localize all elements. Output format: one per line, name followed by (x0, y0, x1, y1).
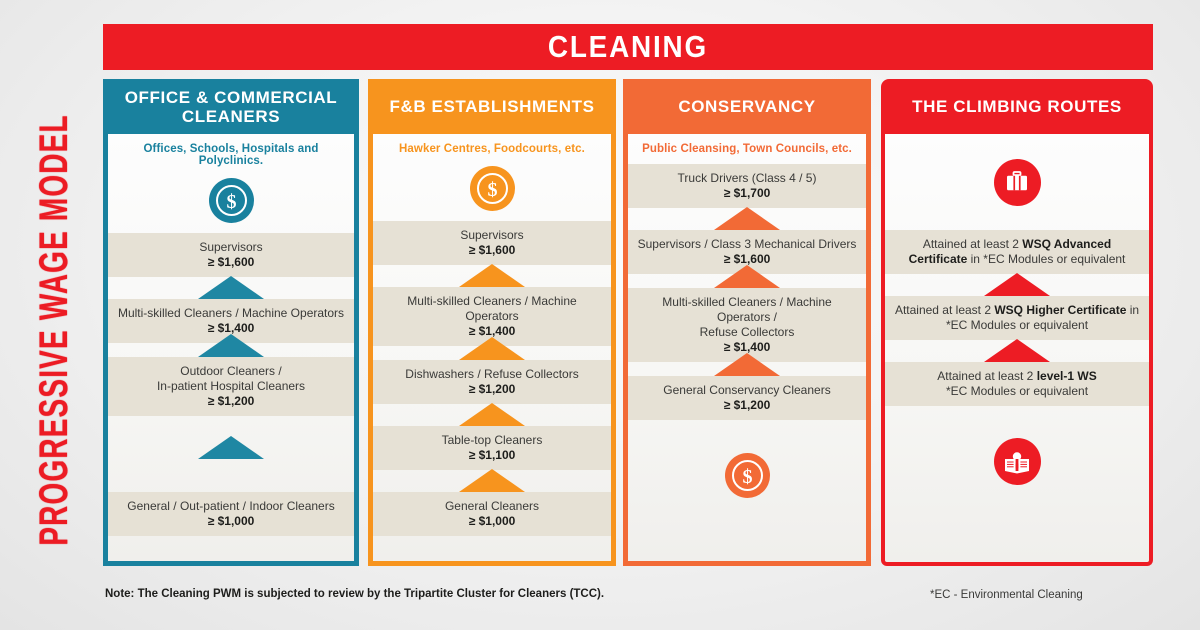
column-office-commercial: OFFICE & COMMERCIAL CLEANERS Offices, Sc… (103, 79, 359, 566)
route-row: Attained at least 2 WSQ Advanced Certifi… (885, 230, 1149, 274)
briefcase-icon (994, 159, 1041, 206)
arrow-gap (628, 362, 866, 376)
arrow-gap (628, 208, 866, 230)
column-heading-office: OFFICE & COMMERCIAL CLEANERS (103, 79, 359, 134)
up-arrow-icon (459, 469, 525, 492)
dollar-coin-icon: $ (470, 166, 515, 211)
route-row-pre: Attained at least 2 (937, 369, 1036, 383)
header-banner: CLEANING (103, 24, 1153, 70)
up-arrow-icon (459, 403, 525, 426)
columns-container: OFFICE & COMMERCIAL CLEANERS Offices, Sc… (103, 79, 1153, 566)
wage-row-label: Supervisors / Class 3 Mechanical Drivers (636, 237, 858, 252)
svg-text:$: $ (487, 179, 497, 201)
wage-row: Supervisors ≥ $1,600 (373, 221, 611, 265)
wage-row: Supervisors ≥ $1,600 (108, 233, 354, 277)
infographic-root: PROGRESSIVE WAGE MODEL CLEANING OFFICE &… (0, 0, 1200, 630)
wage-row-label: General Conservancy Cleaners (636, 383, 858, 398)
up-arrow-icon (459, 337, 525, 360)
arrow-gap (885, 340, 1149, 362)
wage-row-label: Multi-skilled Cleaners / Machine Operato… (116, 306, 346, 321)
route-row-pre: Attained at least 2 (923, 237, 1022, 251)
ladder-spacer (108, 476, 354, 492)
wage-row-label: Dishwashers / Refuse Collectors (381, 367, 603, 382)
wage-row-amount: ≥ $1,000 (381, 514, 603, 529)
arrow-gap (373, 404, 611, 426)
svg-text:$: $ (742, 466, 752, 488)
dollar-coin-icon-conservancy-wrap: $ (628, 420, 866, 530)
route-row: Attained at least 2 level-1 WS *EC Modul… (885, 362, 1149, 406)
wage-ladder-fnb: Supervisors ≥ $1,600 Multi-skilled Clean… (373, 221, 611, 536)
up-arrow-icon (714, 207, 780, 230)
column-body-conservancy: Public Cleansing, Town Councils, etc. Tr… (623, 134, 871, 566)
wage-row: General / Out-patient / Indoor Cleaners … (108, 492, 354, 536)
column-subtitle-fnb: Hawker Centres, Foodcourts, etc. (373, 134, 611, 155)
route-row-post: *EC Modules or equivalent (946, 384, 1088, 398)
column-heading-conservancy: CONSERVANCY (623, 79, 871, 134)
column-heading-routes: THE CLIMBING ROUTES (881, 79, 1153, 134)
wage-row-label: Outdoor Cleaners / In-patient Hospital C… (116, 364, 346, 394)
arrow-gap (108, 343, 354, 357)
wage-row-amount: ≥ $1,700 (636, 186, 858, 201)
wage-row-label: Multi-skilled Cleaners / Machine Operato… (381, 294, 603, 324)
wage-row-label: General / Out-patient / Indoor Cleaners (116, 499, 346, 514)
column-climbing-routes: THE CLIMBING ROUTES Attained at lea (881, 79, 1153, 566)
column-subtitle-conservancy: Public Cleansing, Town Councils, etc. (628, 134, 866, 155)
dollar-coin-icon: $ (725, 453, 770, 498)
svg-text:$: $ (226, 191, 236, 213)
column-conservancy: CONSERVANCY Public Cleansing, Town Counc… (623, 79, 871, 566)
wage-row-amount: ≥ $1,200 (636, 398, 858, 413)
wage-row-amount: ≥ $1,200 (381, 382, 603, 397)
up-arrow-icon (198, 436, 264, 459)
wage-row: Table-top Cleaners ≥ $1,100 (373, 426, 611, 470)
up-arrow-icon (198, 276, 264, 299)
route-row-strong: WSQ Higher Certificate (994, 303, 1126, 317)
column-body-routes: Attained at least 2 WSQ Advanced Certifi… (881, 134, 1153, 566)
arrow-gap (373, 265, 611, 287)
wage-row-amount: ≥ $1,600 (381, 243, 603, 258)
book-lightbulb-icon (994, 438, 1041, 485)
vertical-page-title-text: PROGRESSIVE WAGE MODEL (31, 114, 77, 545)
arrow-gap (373, 346, 611, 360)
briefcase-icon-wrap (885, 134, 1149, 230)
wage-row-label: Supervisors (381, 228, 603, 243)
route-row-pre: Attained at least 2 (895, 303, 994, 317)
column-subtitle-office: Offices, Schools, Hospitals and Polyclin… (108, 134, 354, 167)
dollar-coin-icon: $ (209, 178, 254, 223)
wage-row-label: Multi-skilled Cleaners / Machine Operato… (636, 295, 858, 340)
wage-row-label: Supervisors (116, 240, 346, 255)
up-arrow-icon (984, 273, 1050, 296)
wage-row: Multi-skilled Cleaners / Machine Operato… (628, 288, 866, 362)
wage-ladder-conservancy: Truck Drivers (Class 4 / 5) ≥ $1,700 Sup… (628, 164, 866, 530)
up-arrow-icon (714, 265, 780, 288)
dollar-coin-icon-office-wrap: $ (108, 167, 354, 233)
wage-row-amount: ≥ $1,000 (116, 514, 346, 529)
wage-row: Truck Drivers (Class 4 / 5) ≥ $1,700 (628, 164, 866, 208)
footer-note: Note: The Cleaning PWM is subjected to r… (105, 588, 604, 600)
wage-row-label: Table-top Cleaners (381, 433, 603, 448)
route-row-post: in *EC Modules or equivalent (967, 252, 1125, 266)
routes-ladder: Attained at least 2 WSQ Advanced Certifi… (885, 230, 1149, 516)
wage-ladder-office: Supervisors ≥ $1,600 Multi-skilled Clean… (108, 233, 354, 536)
wage-row-label: Truck Drivers (Class 4 / 5) (636, 171, 858, 186)
wage-row-amount: ≥ $1,600 (116, 255, 346, 270)
dollar-coin-icon-fnb-wrap: $ (373, 155, 611, 221)
arrow-gap (108, 416, 354, 476)
wage-row: General Conservancy Cleaners ≥ $1,200 (628, 376, 866, 420)
up-arrow-icon (198, 334, 264, 357)
column-heading-fnb: F&B ESTABLISHMENTS (368, 79, 616, 134)
up-arrow-icon (459, 264, 525, 287)
route-row-strong: level-1 WS (1037, 369, 1097, 383)
arrow-gap (373, 470, 611, 492)
wage-row: Dishwashers / Refuse Collectors ≥ $1,200 (373, 360, 611, 404)
footer-ec-note: *EC - Environmental Cleaning (930, 589, 1083, 601)
vertical-page-title: PROGRESSIVE WAGE MODEL (24, 50, 84, 610)
wage-row: Outdoor Cleaners / In-patient Hospital C… (108, 357, 354, 416)
arrow-gap (108, 277, 354, 299)
column-body-office: Offices, Schools, Hospitals and Polyclin… (103, 134, 359, 566)
arrow-gap (885, 274, 1149, 296)
route-row: Attained at least 2 WSQ Higher Certifica… (885, 296, 1149, 340)
banner-title: CLEANING (548, 29, 708, 65)
column-fnb-establishments: F&B ESTABLISHMENTS Hawker Centres, Foodc… (368, 79, 616, 566)
book-lightbulb-icon-wrap (885, 406, 1149, 516)
wage-row-amount: ≥ $1,100 (381, 448, 603, 463)
wage-row: General Cleaners ≥ $1,000 (373, 492, 611, 536)
wage-row-label: General Cleaners (381, 499, 603, 514)
up-arrow-icon (984, 339, 1050, 362)
column-body-fnb: Hawker Centres, Foodcourts, etc. $ Super… (368, 134, 616, 566)
wage-row-amount: ≥ $1,200 (116, 394, 346, 409)
up-arrow-icon (714, 353, 780, 376)
arrow-gap (628, 274, 866, 288)
